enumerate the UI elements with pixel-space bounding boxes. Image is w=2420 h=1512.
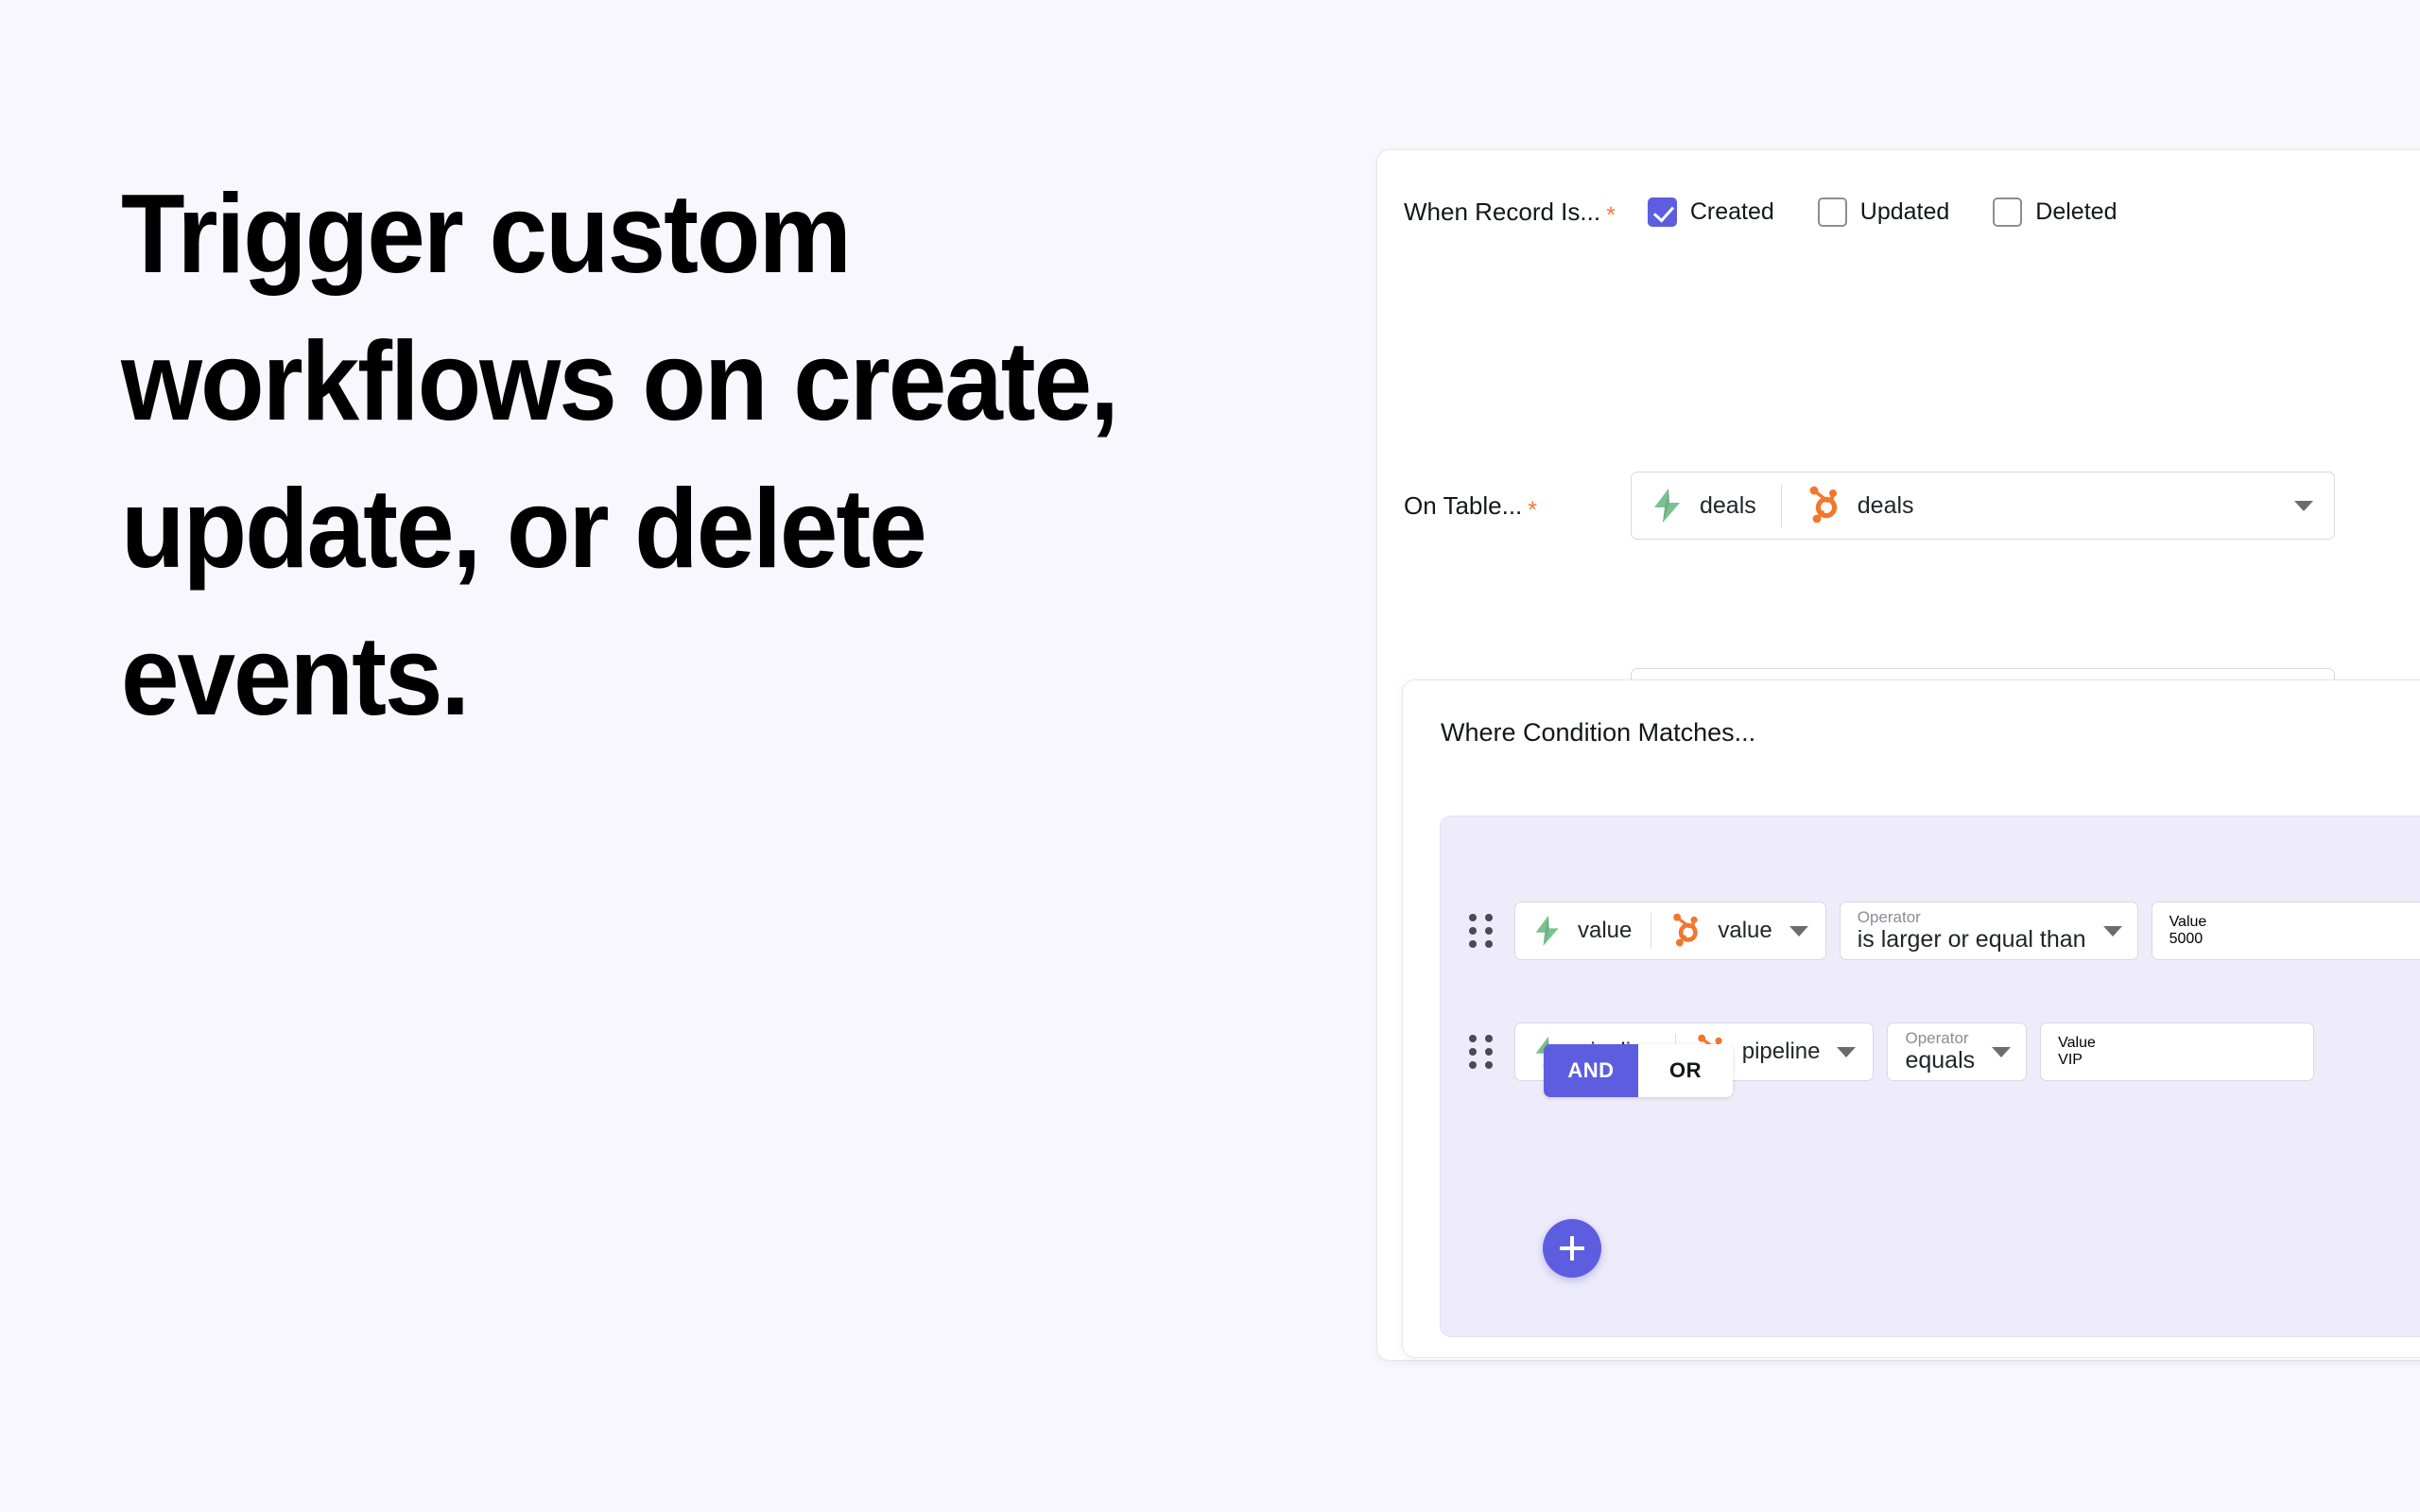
bolt-icon [1532, 914, 1563, 948]
checkbox-created[interactable] [1648, 198, 1677, 227]
logic-or-button[interactable]: OR [1638, 1044, 1733, 1097]
select-divider [1781, 484, 1782, 527]
condition-target-field: value [1670, 913, 1772, 949]
value-text: VIP [2058, 1052, 2296, 1069]
chevron-down-icon[interactable] [1837, 1047, 1856, 1057]
when-record-row: When Record Is... * Created Updated Dele… [1404, 198, 2160, 227]
operator-label: Operator [1905, 1029, 1975, 1048]
logic-operator-toggle[interactable]: AND OR [1544, 1044, 1733, 1097]
checkbox-updated[interactable] [1818, 198, 1847, 227]
hubspot-icon [1806, 486, 1842, 525]
chevron-down-icon[interactable] [2103, 926, 2122, 936]
drag-handle-icon[interactable] [1469, 914, 1494, 949]
required-asterisk: * [1528, 497, 1537, 524]
hubspot-icon [1670, 913, 1703, 949]
checkbox-item-updated[interactable]: Updated [1818, 198, 1950, 227]
value-text: 5000 [2169, 931, 2408, 948]
page-title: Trigger custom workflows on create, upda… [121, 161, 1202, 750]
condition-operator-select[interactable]: Operator equals [1887, 1022, 2027, 1081]
condition-field-select[interactable]: value value [1514, 902, 1826, 960]
logic-and-button[interactable]: AND [1544, 1044, 1638, 1097]
on-table-select[interactable]: deals deals [1631, 472, 2335, 540]
checkbox-item-deleted[interactable]: Deleted [1993, 198, 2117, 227]
condition-source-field-value: value [1578, 918, 1632, 944]
condition-row: value value [1469, 902, 2420, 960]
on-table-source: deals [1651, 487, 1756, 524]
on-table-target-value: deals [1858, 492, 1914, 520]
condition-value-input[interactable]: Value 5000 [2152, 902, 2420, 960]
select-divider [1651, 913, 1651, 949]
condition-operator-select[interactable]: Operator is larger or equal than [1840, 902, 2138, 960]
operator-value: equals [1905, 1047, 1975, 1074]
on-table-label: On Table...* [1404, 491, 1631, 521]
on-table-row: On Table...* deals [1404, 472, 2335, 540]
on-table-label-text: On Table... [1404, 491, 1522, 520]
when-record-checkbox-group: Created Updated Deleted [1648, 198, 2161, 227]
condition-value-input[interactable]: Value VIP [2040, 1022, 2314, 1081]
trigger-config-panel: When Record Is... * Created Updated Dele… [1376, 149, 2420, 1361]
chevron-down-icon[interactable] [2294, 501, 2313, 511]
drag-handle-icon[interactable] [1469, 1035, 1494, 1070]
checkbox-label-created: Created [1690, 198, 1774, 226]
chevron-down-icon[interactable] [1992, 1047, 2011, 1057]
chevron-down-icon[interactable] [1789, 926, 1808, 936]
value-label: Value [2058, 1035, 2296, 1052]
plus-icon [1560, 1236, 1584, 1261]
operator-stack: Operator is larger or equal than [1858, 908, 2086, 954]
checkbox-item-created[interactable]: Created [1648, 198, 1774, 227]
condition-target-field-value: pipeline [1742, 1039, 1821, 1065]
operator-stack: Operator equals [1905, 1029, 1975, 1074]
condition-target-field-value: value [1718, 918, 1772, 944]
value-label: Value [2169, 914, 2408, 931]
when-record-label: When Record Is... [1404, 198, 1600, 227]
checkbox-deleted[interactable] [1993, 198, 2022, 227]
operator-label: Operator [1858, 908, 2086, 927]
required-asterisk: * [1606, 204, 1616, 228]
checkbox-label-updated: Updated [1860, 198, 1950, 226]
add-condition-button[interactable] [1543, 1219, 1601, 1278]
on-table-target: deals [1806, 486, 1914, 525]
condition-source-field: value [1532, 914, 1632, 948]
condition-card-title: Where Condition Matches... [1441, 718, 1755, 747]
bolt-icon [1651, 487, 1685, 524]
checkbox-label-deleted: Deleted [2035, 198, 2117, 226]
operator-value: is larger or equal than [1858, 926, 2086, 954]
on-table-source-value: deals [1700, 492, 1756, 520]
